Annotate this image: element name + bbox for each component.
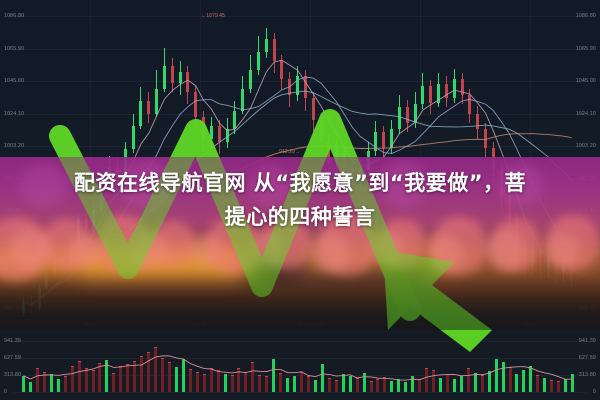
green-zigzag-down-arrow <box>0 0 600 400</box>
arrow-zigzag-stroke <box>60 120 410 310</box>
screenshot-stage: 1086.801065.901045.001024.101003.20982.3… <box>0 0 600 400</box>
